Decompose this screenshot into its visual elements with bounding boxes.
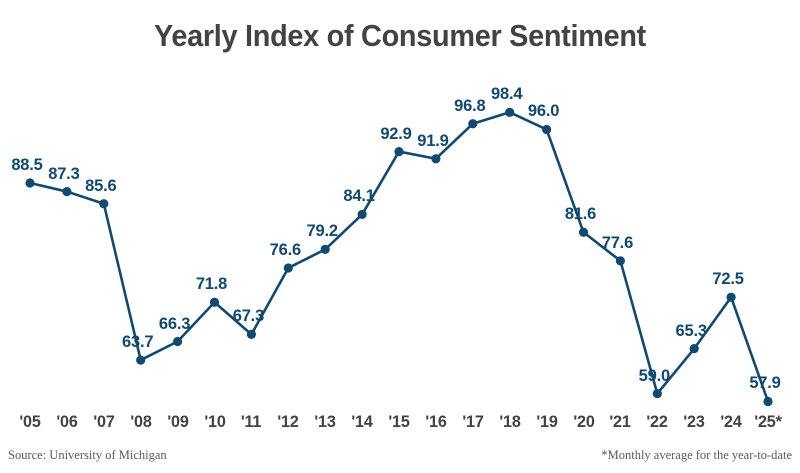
- x-axis-tick-label: '12: [278, 412, 299, 432]
- data-point-label: 79.2: [307, 222, 338, 241]
- x-axis-tick-label: '09: [167, 412, 188, 432]
- x-axis-labels: '05'06'07'08'09'10'11'12'13'14'15'16'17'…: [0, 412, 800, 442]
- data-point-label: 98.4: [491, 85, 522, 104]
- x-axis-tick-label: '05: [19, 412, 40, 432]
- data-point-marker[interactable]: [690, 344, 699, 353]
- data-point-marker[interactable]: [727, 293, 736, 302]
- data-point-label: 92.9: [380, 125, 411, 144]
- footnote-note: *Monthly average for the year-to-date: [601, 448, 792, 463]
- data-point-marker[interactable]: [468, 119, 477, 128]
- data-point-label: 84.1: [343, 187, 374, 206]
- data-point-label: 88.5: [11, 156, 42, 175]
- data-point-marker[interactable]: [542, 125, 551, 134]
- plot-area: 88.587.385.663.766.371.867.376.679.284.1…: [0, 0, 800, 412]
- data-point-marker[interactable]: [284, 263, 293, 272]
- data-point-marker[interactable]: [653, 389, 662, 398]
- data-point-marker[interactable]: [173, 337, 182, 346]
- data-point-marker[interactable]: [505, 108, 514, 117]
- data-point-label: 65.3: [676, 322, 707, 341]
- data-point-label: 57.9: [749, 374, 780, 393]
- x-axis-tick-label: '07: [93, 412, 114, 432]
- data-point-marker[interactable]: [763, 397, 772, 406]
- x-axis-tick-label: '10: [204, 412, 225, 432]
- line-chart-svg: [0, 0, 800, 412]
- chart-container: Yearly Index of Consumer Sentiment 88.58…: [0, 0, 800, 473]
- data-point-label: 59.0: [639, 367, 670, 386]
- data-point-label: 81.6: [565, 205, 596, 224]
- data-point-marker[interactable]: [431, 154, 440, 163]
- data-point-label: 87.3: [48, 165, 79, 184]
- x-axis-tick-label: '11: [241, 412, 261, 432]
- x-axis-tick-label: '06: [56, 412, 77, 432]
- data-point-label: 76.6: [270, 241, 301, 260]
- data-point-marker[interactable]: [99, 199, 108, 208]
- x-axis-tick-label: '19: [536, 412, 557, 432]
- data-point-label: 96.0: [528, 102, 559, 121]
- x-axis-tick-label: '14: [351, 412, 372, 432]
- data-point-label: 63.7: [122, 333, 153, 352]
- data-point-marker[interactable]: [136, 355, 145, 364]
- x-axis-tick-label: '20: [573, 412, 594, 432]
- x-axis-tick-label: '08: [130, 412, 151, 432]
- x-axis-tick-label: '22: [647, 412, 668, 432]
- data-point-marker[interactable]: [321, 245, 330, 254]
- data-point-label: 67.3: [233, 307, 264, 326]
- data-point-label: 71.8: [196, 275, 227, 294]
- data-point-label: 91.9: [417, 132, 448, 151]
- x-axis-tick-label: '16: [425, 412, 446, 432]
- data-point-label: 85.6: [85, 177, 116, 196]
- data-point-marker[interactable]: [579, 228, 588, 237]
- data-point-label: 77.6: [602, 234, 633, 253]
- data-point-label: 72.5: [712, 270, 743, 289]
- chart-footer: Source: University of Michigan *Monthly …: [0, 448, 800, 473]
- x-axis-tick-label: '15: [388, 412, 409, 432]
- data-point-label: 66.3: [159, 315, 190, 334]
- data-point-marker[interactable]: [62, 187, 71, 196]
- data-point-marker[interactable]: [394, 147, 403, 156]
- data-point-marker[interactable]: [247, 330, 256, 339]
- x-axis-tick-label: '21: [610, 412, 631, 432]
- data-point-marker[interactable]: [210, 298, 219, 307]
- data-point-marker[interactable]: [358, 210, 367, 219]
- x-axis-tick-label: '18: [499, 412, 520, 432]
- x-axis-tick-label: '24: [720, 412, 741, 432]
- data-point-markers: [25, 108, 772, 406]
- data-point-marker[interactable]: [25, 178, 34, 187]
- x-axis-tick-label: '25*: [754, 412, 781, 432]
- x-axis-tick-label: '23: [684, 412, 705, 432]
- data-point-marker[interactable]: [616, 256, 625, 265]
- source-note: Source: University of Michigan: [8, 448, 167, 463]
- x-axis-tick-label: '13: [315, 412, 336, 432]
- data-point-label: 96.8: [454, 97, 485, 116]
- x-axis-tick-label: '17: [462, 412, 483, 432]
